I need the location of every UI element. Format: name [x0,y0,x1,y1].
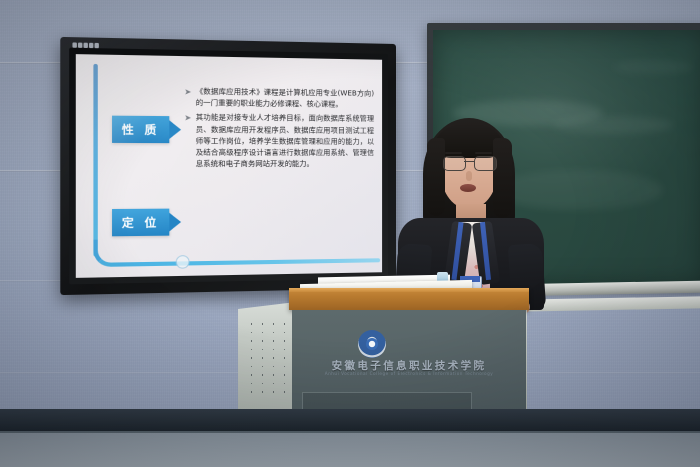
bullet-arrow-icon: ➤ [184,85,191,108]
floor-surface [0,433,700,467]
lens-left [443,156,466,171]
eyeglasses [443,156,496,169]
mouth [460,184,476,192]
glasses-bridge [464,161,474,162]
speaker-grille-left [246,320,290,396]
podium-speaker-left [238,302,296,418]
slide-bullet-text: 其功能是对接专业人才培养目标，面向数据库系统管理员、数据库应用开发程序员、数据库… [196,112,374,170]
slide-accent-line-vertical [93,64,97,257]
slide-bullet-list: ➤ 《数据库应用技术》课程是计算机应用专业(WEB方向)的一门重要的职业能力必修… [184,85,374,173]
slide-bullet-item: ➤ 《数据库应用技术》课程是计算机应用专业(WEB方向)的一门重要的职业能力必修… [184,85,374,110]
wall-baseboard [0,409,700,431]
chalk-residue [613,60,693,74]
nose [466,171,472,181]
slide-bullet-item: ➤ 其功能是对接专业人才培养目标，面向数据库系统管理员、数据库应用开发程序员、数… [184,111,374,169]
college-emblem-center-icon [366,338,378,350]
chalk-residue [553,116,673,134]
podium-institution-name-en: Anhui Vocational College of Electronics … [292,371,526,376]
hair-left-side [427,138,445,216]
slide-tag-nature: 性 质 [112,116,169,143]
hair-right-side [493,138,512,218]
eyebrow-right [475,152,492,154]
interactive-smart-display[interactable]: 性 质 定 位 ➤ 《数据库应用技术》课程是计算机应用专业(WEB方向)的一门重… [60,37,396,295]
lens-right [474,156,497,171]
slide-tag-label: 性 质 [122,121,160,138]
slide-accent-line-horizontal [120,258,380,266]
slide-tag-label: 定 位 [122,214,160,231]
presentation-slide: 性 质 定 位 ➤ 《数据库应用技术》课程是计算机应用专业(WEB方向)的一门重… [76,54,382,278]
slide-accent-corner [93,239,121,267]
slide-accent-dot-icon [176,255,190,269]
slide-tag-positioning: 定 位 [112,209,169,237]
slide-bullet-text: 《数据库应用技术》课程是计算机应用专业(WEB方向)的一门重要的职业能力必修课程… [196,85,374,110]
podium-desktop-edge [289,288,529,292]
classroom-photo: 性 质 定 位 ➤ 《数据库应用技术》课程是计算机应用专业(WEB方向)的一门重… [0,0,700,467]
bullet-arrow-icon: ➤ [184,111,191,169]
eyebrow-left [445,152,462,154]
